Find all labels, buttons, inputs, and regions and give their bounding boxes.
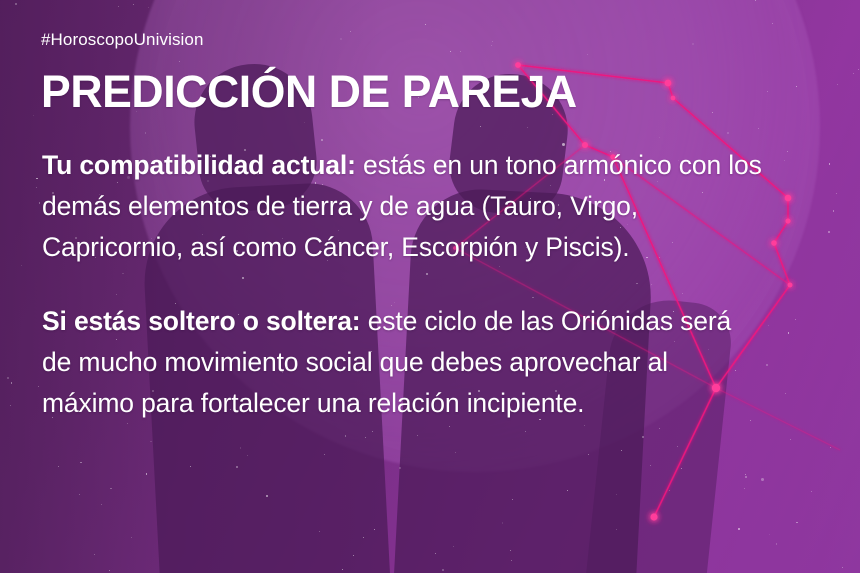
paragraph-single: Si estás soltero o soltera: este ciclo d… <box>42 301 762 424</box>
hashtag-label: #HoroscopoUnivision <box>41 30 820 50</box>
prediction-body: Tu compatibilidad actual: estás en un to… <box>42 145 820 424</box>
paragraph-compatibility: Tu compatibilidad actual: estás en un to… <box>42 145 762 268</box>
paragraph-lead-single: Si estás soltero o soltera: <box>42 306 360 336</box>
page-title: PREDICCIÓN DE PAREJA <box>41 69 812 115</box>
card-content: #HoroscopoUnivision PREDICCIÓN DE PAREJA… <box>0 0 860 573</box>
horoscope-prediction-card: #HoroscopoUnivision PREDICCIÓN DE PAREJA… <box>0 0 860 573</box>
paragraph-lead-compatibility: Tu compatibilidad actual: <box>42 150 356 180</box>
